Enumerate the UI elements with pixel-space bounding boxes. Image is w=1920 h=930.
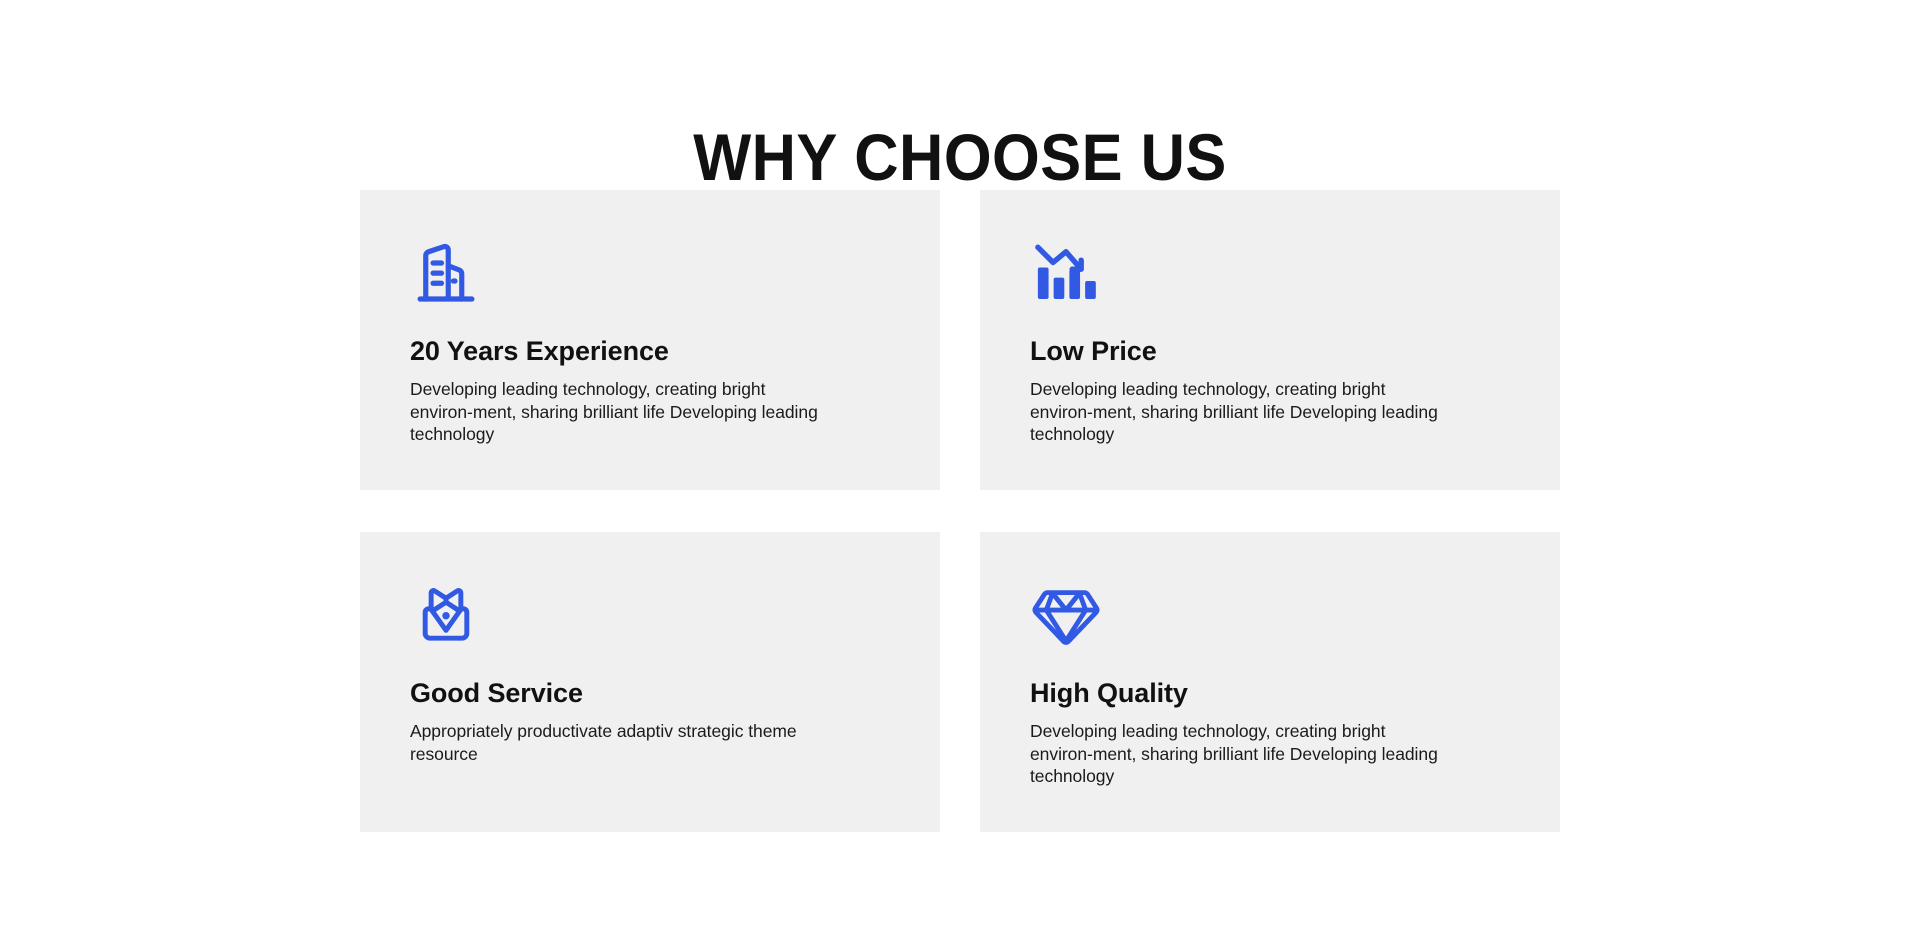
feature-card-grid: 20 Years Experience Developing leading t…	[360, 190, 1560, 832]
why-choose-us-section: WHY CHOOSE US 20 Years Experience Develo…	[0, 0, 1920, 930]
card-title: Good Service	[410, 676, 583, 710]
card-description: Appropriately productivate adaptiv strat…	[410, 720, 830, 765]
office-building-icon	[410, 236, 482, 308]
card-title: 20 Years Experience	[410, 334, 669, 368]
feature-card-low-price[interactable]: Low Price Developing leading technology,…	[980, 190, 1560, 490]
feature-card-experience[interactable]: 20 Years Experience Developing leading t…	[360, 190, 940, 490]
page-title: WHY CHOOSE US	[67, 122, 1853, 192]
feature-card-high-quality[interactable]: High Quality Developing leading technolo…	[980, 532, 1560, 832]
declining-bar-chart-icon	[1030, 236, 1102, 308]
tuxedo-bowtie-icon	[410, 578, 482, 650]
card-title: Low Price	[1030, 334, 1157, 368]
card-title: High Quality	[1030, 676, 1188, 710]
card-description: Developing leading technology, creating …	[410, 378, 830, 446]
diamond-icon	[1030, 578, 1102, 650]
feature-card-good-service[interactable]: Good Service Appropriately productivate …	[360, 532, 940, 832]
card-description: Developing leading technology, creating …	[1030, 378, 1450, 446]
card-description: Developing leading technology, creating …	[1030, 720, 1450, 788]
